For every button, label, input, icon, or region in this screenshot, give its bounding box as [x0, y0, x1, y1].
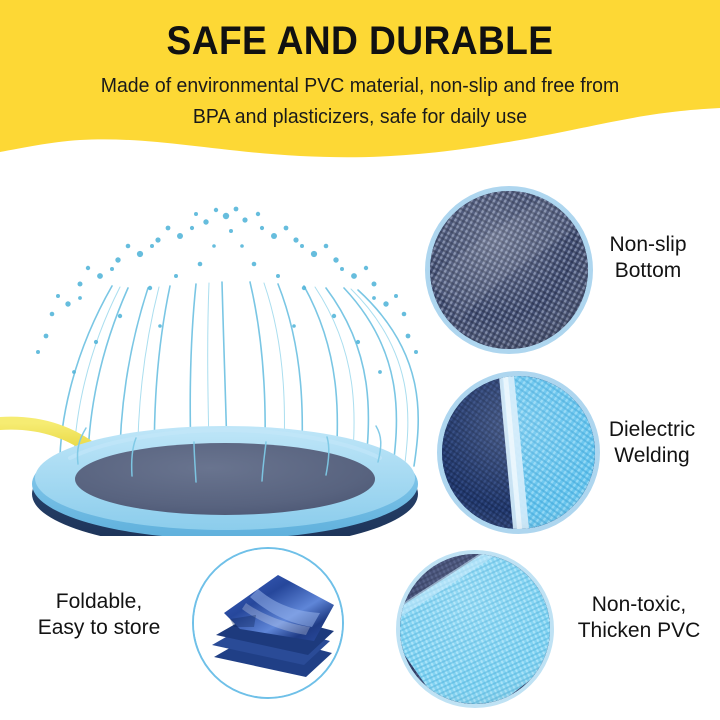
callout-circle-non-toxic-thicken-pvc — [396, 550, 554, 708]
callout-label-foldable: Foldable, Easy to store — [8, 589, 190, 641]
subtitle-line-1: Made of environmental PVC material, non-… — [18, 62, 702, 101]
header-banner: SAFE AND DURABLE Made of environmental P… — [0, 0, 720, 172]
mat-center-surface — [75, 443, 375, 515]
folded-pvc-mat-image — [194, 549, 344, 699]
page-title: SAFE AND DURABLE — [25, 0, 695, 62]
dielectric-weld-texture — [442, 376, 600, 534]
thicken-pvc-texture — [400, 554, 554, 708]
water-droplets — [36, 207, 418, 374]
callout-label-non-slip-bottom: Non-slip Bottom — [578, 232, 718, 284]
subtitle-line-2: BPA and plasticizers, safe for daily use — [18, 101, 702, 132]
banner-text-block: SAFE AND DURABLE Made of environmental P… — [0, 0, 720, 132]
product-image-sprinkler-mat — [0, 176, 450, 536]
callout-circle-foldable — [192, 547, 344, 699]
infographic-page: SAFE AND DURABLE Made of environmental P… — [0, 0, 720, 720]
callout-circle-dielectric-welding — [437, 371, 600, 534]
callout-label-dielectric-welding: Dielectric Welding — [586, 417, 718, 469]
callout-label-non-toxic-thicken-pvc: Non-toxic, Thicken PVC — [560, 592, 718, 644]
non-slip-mesh-texture — [430, 191, 593, 354]
callout-circle-non-slip-bottom — [425, 186, 593, 354]
